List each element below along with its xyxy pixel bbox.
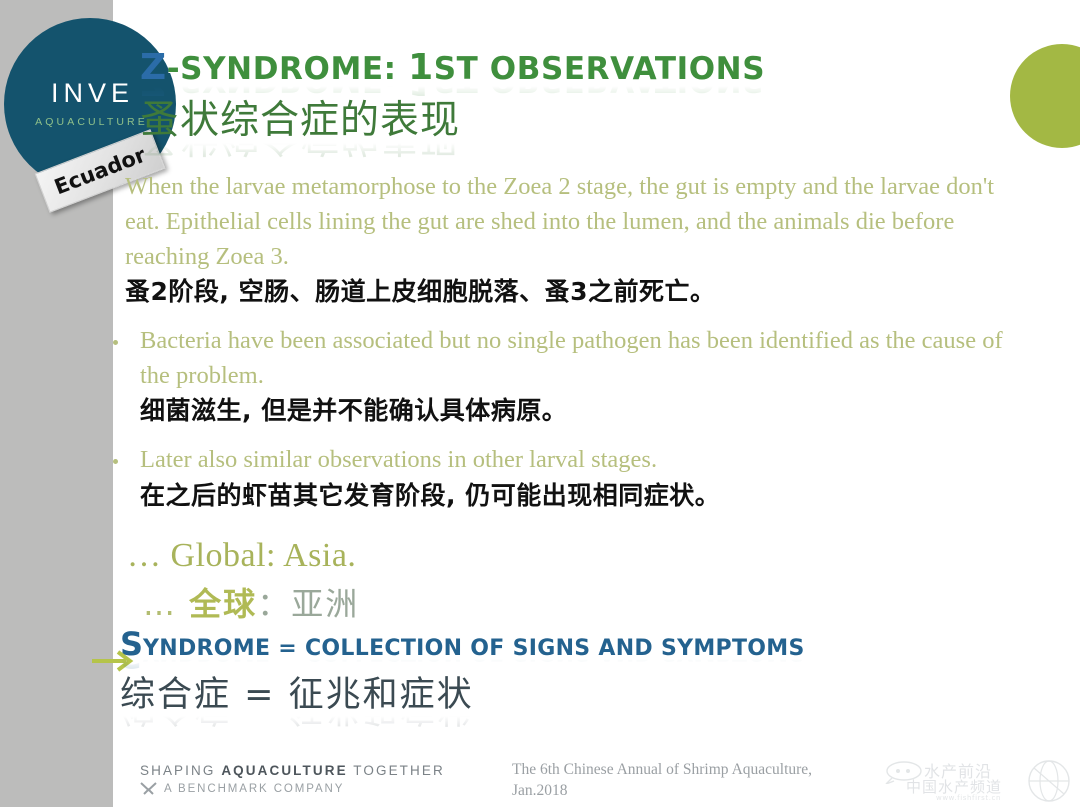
bullet-dot-icon bbox=[113, 340, 118, 345]
global-zh-dots: … bbox=[143, 585, 189, 623]
title-chinese-reflection: 蚤状综合症的表现 bbox=[140, 142, 1020, 158]
syndrome-english: SYNDROME = COLLECTION OF SIGNS AND SYMPT… bbox=[120, 628, 1020, 660]
syndrome-chinese-reflection: 综合症 = 征兆和症状 bbox=[120, 715, 1020, 731]
footer-event-line-1: The 6th Chinese Annual of Shrimp Aquacul… bbox=[512, 760, 812, 781]
paragraph-block-1: When the larvae metamorphose to the Zoea… bbox=[125, 170, 1013, 310]
channel-watermark: 水产前沿 中国水产频道 www.fishfirst.cn bbox=[884, 758, 1074, 806]
slide-canvas: INVE AQUACULTURE Ecuador Z-SYNDROME: 1ST… bbox=[0, 0, 1080, 807]
corner-green-circle-decoration bbox=[1010, 44, 1080, 148]
benchmark-logo-icon bbox=[140, 782, 157, 795]
footer-event-info: The 6th Chinese Annual of Shrimp Aquacul… bbox=[512, 760, 812, 802]
bullet-item-2: Later also similar observations in other… bbox=[113, 443, 1013, 513]
footer-tagline-c: TOGETHER bbox=[348, 763, 445, 778]
page-title-english: Z-SYNDROME: 1ST OBSERVATIONS bbox=[140, 50, 1020, 87]
footer-tagline-b: AQUACULTURE bbox=[221, 763, 347, 778]
global-zh-global: 全球 bbox=[189, 585, 257, 623]
bullet-item-1: Bacteria have been associated but no sin… bbox=[113, 324, 1013, 429]
title-rest: -SYNDROME: bbox=[167, 51, 408, 87]
title-number: 1 bbox=[408, 47, 434, 88]
title-block: Z-SYNDROME: 1ST OBSERVATIONS Z-SYNDROME:… bbox=[140, 50, 1020, 158]
body-content: When the larvae metamorphose to the Zoea… bbox=[113, 170, 1013, 625]
paragraph-1-english: When the larvae metamorphose to the Zoea… bbox=[125, 170, 1013, 274]
footer-company-label: A BENCHMARK COMPANY bbox=[164, 783, 344, 795]
syndrome-word: YNDROME bbox=[143, 636, 270, 661]
bullet-dot-icon bbox=[113, 459, 118, 464]
footer-tagline: SHAPING AQUACULTURE TOGETHER bbox=[140, 763, 445, 778]
globe-icon bbox=[1026, 758, 1072, 804]
global-zh-asia: 亚洲 bbox=[291, 585, 359, 623]
syndrome-definition-block: SYNDROME = COLLECTION OF SIGNS AND SYMPT… bbox=[120, 628, 1020, 731]
syndrome-chinese: 综合症 = 征兆和症状 bbox=[120, 676, 1020, 715]
bullet-1-body: Bacteria have been associated but no sin… bbox=[140, 324, 1013, 429]
logo-brand-name: INVE bbox=[46, 80, 134, 107]
title-letter-z: Z bbox=[140, 47, 167, 88]
global-asia-chinese: … 全球：亚洲 bbox=[143, 579, 1013, 625]
bullet-1-english: Bacteria have been associated but no sin… bbox=[140, 324, 1013, 394]
bullet-2-english: Later also similar observations in other… bbox=[140, 443, 1013, 478]
arrow-right-icon bbox=[90, 646, 136, 676]
syndrome-equals-text: = COLLECTION OF SIGNS AND SYMPTOMS bbox=[270, 636, 804, 661]
bullet-2-body: Later also similar observations in other… bbox=[140, 443, 1013, 513]
logo-brand-sub: AQUACULTURE bbox=[32, 116, 148, 128]
page-title-chinese: 蚤状综合症的表现 bbox=[140, 101, 1020, 142]
title-tail: ST OBSERVATIONS bbox=[434, 51, 765, 87]
footer-company-row: A BENCHMARK COMPANY bbox=[140, 782, 445, 795]
footer-tagline-a: SHAPING bbox=[140, 763, 221, 778]
watermark-url: www.fishfirst.cn bbox=[936, 794, 1001, 802]
bullet-1-chinese: 细菌滋生, 但是并不能确认具体病原。 bbox=[140, 393, 1013, 429]
paragraph-1-chinese: 蚤2阶段, 空肠、肠道上皮细胞脱落、蚤3之前死亡。 bbox=[125, 274, 1013, 310]
global-asia-english: … Global: Asia. bbox=[127, 537, 1013, 575]
global-zh-separator: ： bbox=[257, 585, 291, 623]
footer-brand-block: SHAPING AQUACULTURE TOGETHER A BENCHMARK… bbox=[140, 763, 445, 795]
bullet-2-chinese: 在之后的虾苗其它发育阶段, 仍可能出现相同症状。 bbox=[140, 478, 1013, 514]
footer-event-line-2: Jan.2018 bbox=[512, 781, 812, 802]
